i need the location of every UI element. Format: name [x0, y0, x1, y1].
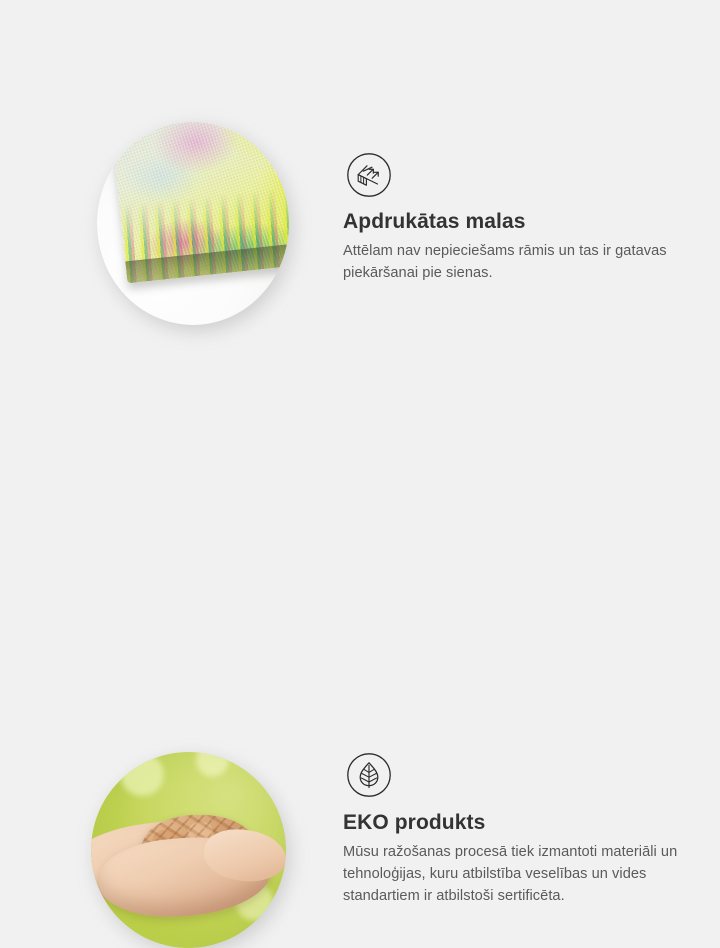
- feature-title-eco: EKO produkts: [343, 810, 693, 836]
- feature-block-printed-edges: Apdrukātas malas Attēlam nav nepieciešam…: [0, 0, 720, 360]
- canvas-wrapped-edge-icon: [346, 152, 392, 198]
- product-feature-panel: Apdrukātas malas Attēlam nav nepieciešam…: [0, 0, 720, 720]
- feature-title-printed-edges: Apdrukātas malas: [343, 209, 693, 235]
- canvas-photo-inner: [97, 122, 289, 325]
- feature-text-printed-edges: Apdrukātas malas Attēlam nav nepieciešam…: [343, 209, 693, 284]
- feature-block-eco: EKO produkts Mūsu ražošanas procesā tiek…: [0, 360, 720, 720]
- canvas-board: [110, 122, 289, 283]
- feature-description-eco: Mūsu ražošanas procesā tiek izmantoti ma…: [343, 841, 693, 907]
- feature-text-eco: EKO produkts Mūsu ražošanas procesā tiek…: [343, 810, 693, 907]
- wood-chips-photo-inner: [91, 752, 286, 948]
- leaf-icon: [346, 752, 392, 798]
- feature-image-canvas-edge: [97, 122, 289, 325]
- feature-description-printed-edges: Attēlam nav nepieciešams rāmis un tas ir…: [343, 240, 693, 284]
- feature-image-wood-chips: [91, 752, 286, 948]
